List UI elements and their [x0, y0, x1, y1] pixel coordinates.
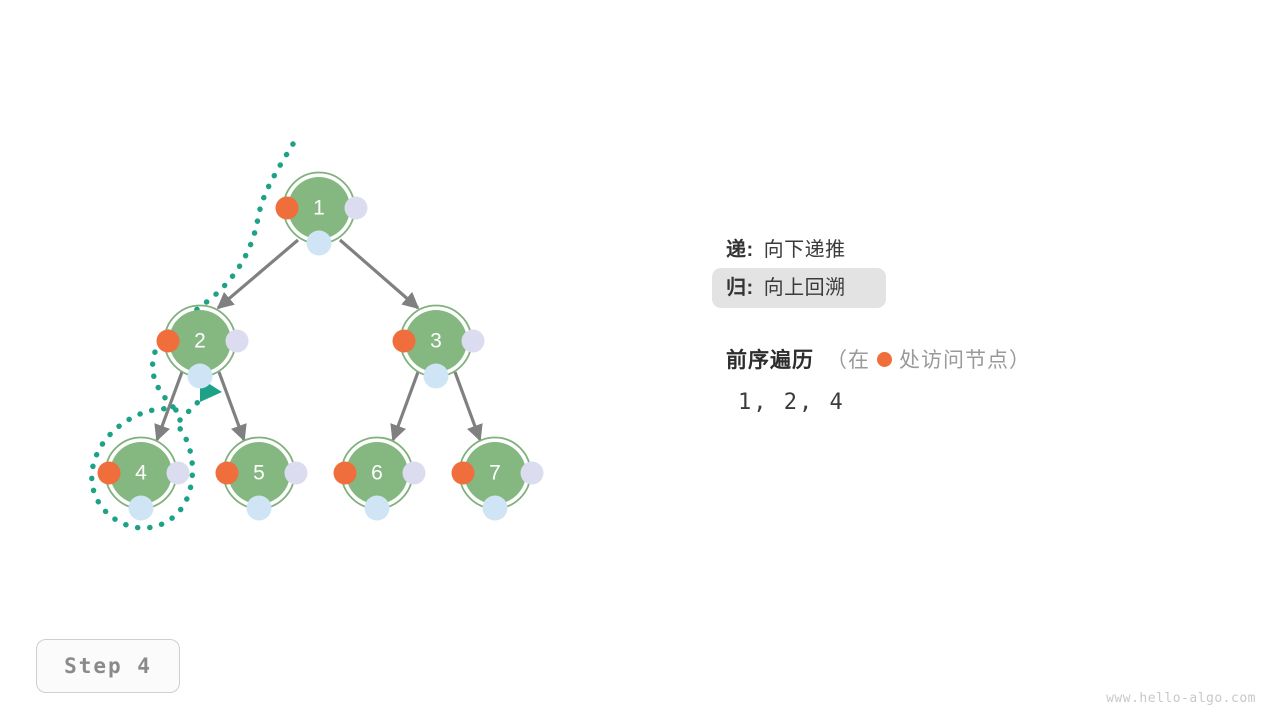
node-label: 5 [253, 462, 265, 485]
edge-3-6 [393, 372, 418, 440]
legend-row-recurse: 递: 向下递推 [726, 232, 1146, 268]
node-label: 3 [430, 330, 442, 353]
traversal-title: 前序遍历 [726, 344, 814, 374]
node-right-dot [345, 197, 368, 220]
node-visit-dot [216, 462, 239, 485]
node-right-dot [285, 462, 308, 485]
tree-node-7[interactable]: 7 [452, 438, 544, 521]
tree-node-5[interactable]: 5 [216, 438, 308, 521]
node-bottom-dot [483, 496, 508, 521]
traversal-result: 1, 2, 4 [738, 390, 1146, 415]
step-badge: Step 4 [36, 639, 180, 693]
legend-value-return: 向上回溯 [764, 278, 846, 298]
legend-value-recurse: 向下递推 [764, 240, 846, 260]
node-label: 1 [313, 197, 325, 220]
node-visit-dot [98, 462, 121, 485]
tree-node-3[interactable]: 3 [393, 306, 485, 389]
legend-panel: 递: 向下递推 归: 向上回溯 前序遍历 （在 处访问节点） 1, 2, 4 [726, 232, 1146, 415]
tree-node-6[interactable]: 6 [334, 438, 426, 521]
legend-spacer [726, 308, 1146, 340]
node-bottom-dot [424, 364, 449, 389]
traversal-note-prefix: （在 [826, 344, 870, 374]
node-label: 2 [194, 330, 206, 353]
node-right-dot [462, 330, 485, 353]
visit-marker-icon [877, 352, 892, 367]
traversal-note-suffix: 处访问节点） [899, 344, 1031, 374]
watermark: www.hello-algo.com [1106, 691, 1256, 706]
edge-2-5 [219, 372, 244, 440]
node-bottom-dot [307, 231, 332, 256]
node-label: 7 [489, 462, 501, 485]
tree-nodes: 1 2 3 4 [98, 173, 544, 521]
node-visit-dot [276, 197, 299, 220]
node-visit-dot [157, 330, 180, 353]
node-right-dot [226, 330, 249, 353]
node-label: 4 [135, 462, 147, 485]
traversal-heading: 前序遍历 （在 处访问节点） [726, 344, 1146, 374]
edge-1-3 [340, 240, 418, 308]
node-bottom-dot [365, 496, 390, 521]
legend-label-recurse: 递: [726, 240, 754, 260]
node-right-dot [521, 462, 544, 485]
legend-label-return: 归: [726, 278, 754, 298]
node-right-dot [403, 462, 426, 485]
node-label: 6 [371, 462, 383, 485]
tree-node-1[interactable]: 1 [276, 173, 368, 256]
node-bottom-dot [129, 496, 154, 521]
tree-node-4[interactable]: 4 [98, 438, 190, 521]
edge-3-7 [455, 372, 480, 440]
node-right-dot [167, 462, 190, 485]
edge-1-2 [218, 240, 298, 308]
tree-node-2[interactable]: 2 [157, 306, 249, 389]
node-bottom-dot [247, 496, 272, 521]
node-visit-dot [393, 330, 416, 353]
node-bottom-dot [188, 364, 213, 389]
legend-row-return: 归: 向上回溯 [712, 268, 886, 308]
node-visit-dot [334, 462, 357, 485]
node-visit-dot [452, 462, 475, 485]
